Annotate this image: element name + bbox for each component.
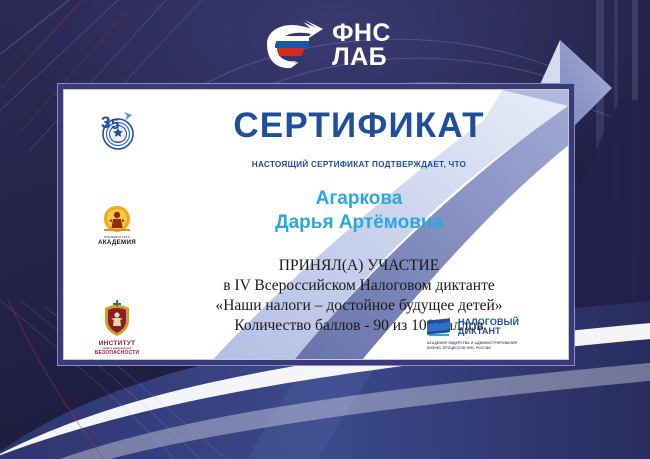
fns-lab-logo: ФНС ЛАБ: [0, 14, 650, 76]
anniversary-35-eagle-emblem-icon: 3 5: [94, 106, 140, 152]
diktant-wordmark: НАЛОГОВЫЙ ДИКТАНТ: [458, 318, 519, 337]
security-institute-shield-icon: [100, 299, 134, 339]
fns-lab-wordmark: ФНС ЛАБ: [332, 21, 391, 70]
certificate-title: СЕРТИФИКАТ: [160, 108, 558, 143]
institute-caption-mid: БЕЗОПАСНОСТИ: [95, 351, 140, 356]
sidebar-logo-anniversary-35: 3 5: [94, 106, 140, 152]
diktant-line-2: ДИКТАНТ: [458, 327, 519, 337]
ranepa-crest-icon: [100, 205, 134, 235]
certificate-subtitle: НАСТОЯЩИЙ СЕРТИФИКАТ ПОДТВЕРЖДАЕТ, ЧТО: [160, 160, 558, 169]
recipient-name: Агаркова Дарья Артёмовна: [160, 187, 558, 236]
nalogovy-diktant-logo: НАЛОГОВЫЙ ДИКТАНТ АКАДЕМИЯ ЛИДЕРСТВА И А…: [426, 317, 558, 350]
svg-text:5: 5: [111, 116, 119, 133]
fns-lab-swoosh-flag-icon: [259, 16, 323, 74]
diktant-fineprint: АКАДЕМИЯ ЛИДЕРСТВА И АДМИНИСТРИРОВАНИЯ Б…: [426, 341, 558, 350]
brand-line-1: ФНС: [332, 21, 391, 46]
certificate-screenshot: ФНС ЛАБ: [0, 0, 650, 459]
body-line-1: ПРИНЯЛ(А) УЧАСТИЕ: [160, 256, 558, 276]
svg-text:3: 3: [101, 113, 110, 132]
certificate-text-block: СЕРТИФИКАТ НАСТОЯЩИЙ СЕРТИФИКАТ ПОДТВЕРЖ…: [160, 108, 558, 336]
body-line-3: «Наши налоги – достойное будущее детей»: [160, 296, 558, 316]
diktant-logo-row: НАЛОГОВЫЙ ДИКТАНТ: [426, 317, 558, 337]
brand-line-2: ЛАБ: [332, 45, 391, 70]
sidebar-logo-ranepa: ПРЕЗИДЕНТСКАЯ АКАДЕМИЯ: [98, 205, 136, 246]
sidebar-logo-security-institute: ИНСТИТУТ права и национальной БЕЗОПАСНОС…: [95, 299, 140, 356]
recipient-surname: Агаркова: [160, 187, 558, 211]
recipient-given-patronymic: Дарья Артёмовна: [160, 211, 558, 235]
certificate-card: 3 5 ПРЕЗИДЕНТ: [57, 83, 575, 366]
body-line-2: в IV Всероссийском Налоговом диктанте: [160, 276, 558, 296]
nalogovy-diktant-book-icon: [426, 317, 453, 337]
partner-logos-column: 3 5 ПРЕЗИДЕНТ: [80, 106, 154, 356]
ranepa-caption: ПРЕЗИДЕНТСКАЯ АКАДЕМИЯ: [98, 237, 136, 246]
security-institute-caption: ИНСТИТУТ права и национальной БЕЗОПАСНОС…: [95, 341, 140, 356]
ranepa-caption-big: АКАДЕМИЯ: [98, 240, 136, 247]
certificate-inner-frame: 3 5 ПРЕЗИДЕНТ: [63, 89, 569, 360]
fineprint-line-2: БИЗНЕС-ПРОЦЕССОВ ФНС РОССИИ: [427, 346, 558, 350]
